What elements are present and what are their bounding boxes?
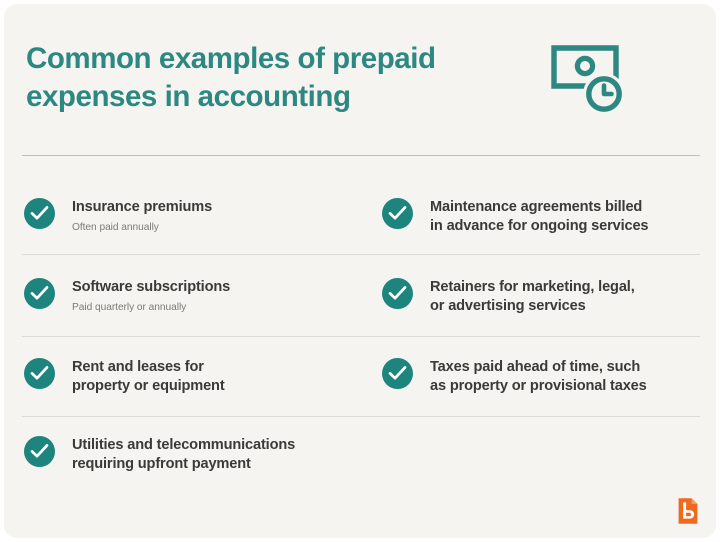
list-item-title-line: Insurance premiums — [72, 198, 212, 217]
list-item-title-line: Retainers for marketing, legal, — [430, 278, 635, 297]
list-item-text: Taxes paid ahead of time, such as proper… — [430, 357, 647, 397]
list-item-title-line: Maintenance agreements billed — [430, 198, 648, 217]
list-item-title: Retainers for marketing, legal, or adver… — [430, 278, 635, 317]
list-item: Utilities and telecommunications requiri… — [24, 435, 354, 475]
row-divider — [22, 416, 700, 417]
check-circle-icon — [382, 278, 413, 309]
check-circle-icon — [382, 198, 413, 229]
list-item-text: Maintenance agreements billed in advance… — [430, 197, 648, 237]
row-divider — [22, 336, 700, 337]
list-item-text: Retainers for marketing, legal, or adver… — [430, 277, 635, 317]
list-item-title: Software subscriptions — [72, 278, 230, 297]
list-item-title: Insurance premiums — [72, 198, 212, 217]
list-item-text: Utilities and telecommunications requiri… — [72, 435, 295, 475]
list-item-title-line: as property or provisional taxes — [430, 377, 647, 396]
list-item: Software subscriptions Paid quarterly or… — [24, 277, 354, 317]
list-item-title-line: Rent and leases for — [72, 358, 225, 377]
list-item-title: Maintenance agreements billed in advance… — [430, 198, 648, 237]
list-item: Taxes paid ahead of time, such as proper… — [382, 357, 707, 397]
list-item-title-line: Taxes paid ahead of time, such — [430, 358, 647, 377]
list-item-title-line: or advertising services — [430, 297, 635, 316]
brand-b-logo — [677, 497, 699, 525]
check-circle-icon — [24, 278, 55, 309]
check-circle-icon — [24, 358, 55, 389]
header-divider — [22, 155, 700, 156]
list-item-title-line: Software subscriptions — [72, 278, 230, 297]
list-item-text: Insurance premiums Often paid annually — [72, 197, 212, 237]
list-item-title-line: in advance for ongoing services — [430, 217, 648, 236]
list-item-subtitle: Paid quarterly or annually — [72, 302, 186, 313]
list-item-title: Rent and leases for property or equipmen… — [72, 358, 225, 397]
list-item-title: Taxes paid ahead of time, such as proper… — [430, 358, 647, 397]
list-item-title-line: requiring upfront payment — [72, 455, 295, 474]
list-item: Rent and leases for property or equipmen… — [24, 357, 354, 397]
page-title: Common examples of prepaid expenses in a… — [26, 40, 516, 116]
page-title-line-2: expenses in accounting — [26, 78, 516, 116]
list-item: Retainers for marketing, legal, or adver… — [382, 277, 707, 317]
card-header: Common examples of prepaid expenses in a… — [4, 4, 716, 155]
list-item: Maintenance agreements billed in advance… — [382, 197, 707, 237]
infographic-card: Common examples of prepaid expenses in a… — [4, 4, 716, 538]
list-item-title: Utilities and telecommunications requiri… — [72, 436, 295, 475]
check-circle-icon — [24, 436, 55, 467]
list-item-text: Software subscriptions Paid quarterly or… — [72, 277, 230, 317]
page-title-line-1: Common examples of prepaid — [26, 40, 516, 78]
money-clock-icon — [550, 42, 632, 120]
list-item-text: Rent and leases for property or equipmen… — [72, 357, 225, 397]
row-divider — [22, 254, 700, 255]
list-item: Insurance premiums Often paid annually — [24, 197, 354, 237]
check-circle-icon — [382, 358, 413, 389]
check-circle-icon — [24, 198, 55, 229]
list-item-title-line: property or equipment — [72, 377, 225, 396]
list-item-subtitle: Often paid annually — [72, 222, 159, 233]
list-item-title-line: Utilities and telecommunications — [72, 436, 295, 455]
